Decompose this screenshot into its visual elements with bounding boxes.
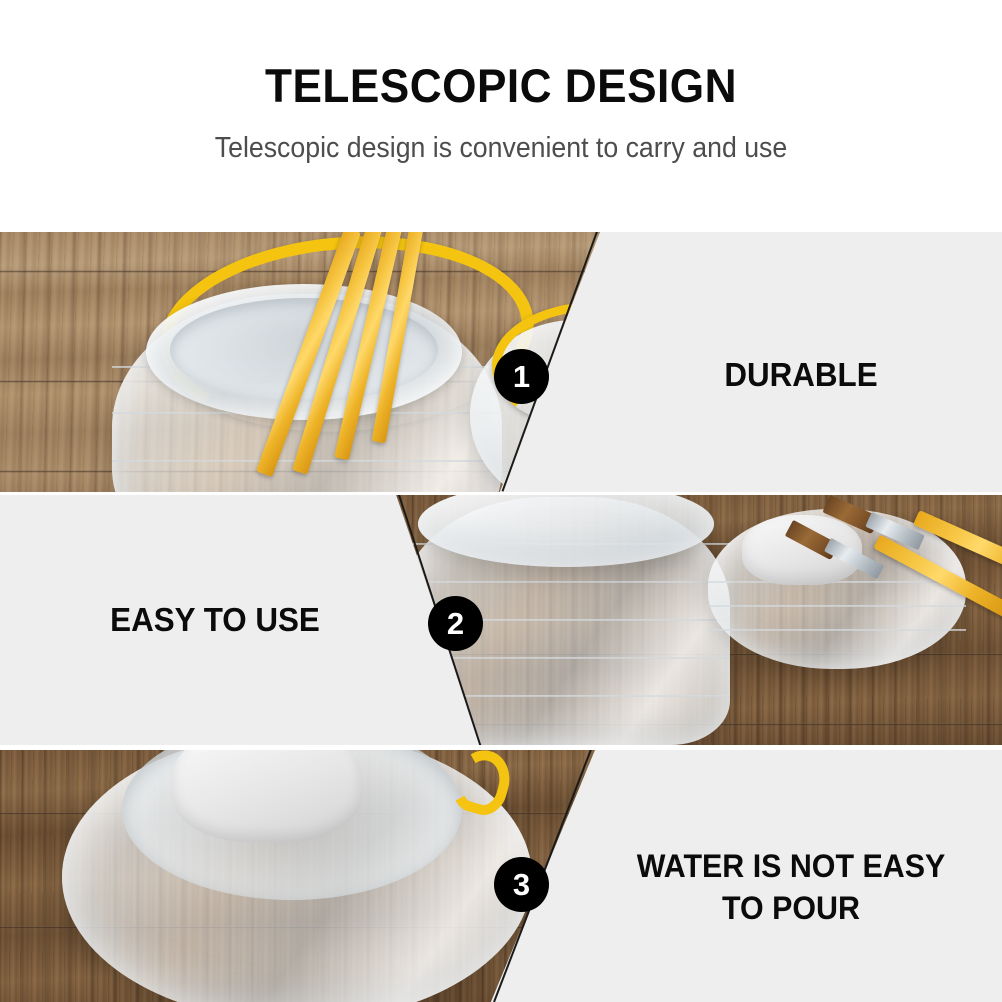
header: TELESCOPIC DESIGN Telescopic design is c…	[0, 0, 1002, 232]
feature-caption-2: EASY TO USE	[11, 601, 420, 639]
step-badge-3: 3	[494, 857, 549, 912]
page-subtitle: Telescopic design is convenient to carry…	[40, 128, 962, 168]
infographic-page: TELESCOPIC DESIGN Telescopic design is c…	[0, 0, 1002, 1002]
sponge	[172, 750, 362, 842]
page-title: TELESCOPIC DESIGN	[30, 58, 972, 114]
feature-caption-3: WATER IS NOT EASY TO POUR	[591, 845, 992, 929]
step-badge-1: 1	[494, 349, 549, 404]
feature-caption-3-line2: TO POUR	[591, 887, 992, 929]
step-badge-2: 2	[428, 596, 483, 651]
feature-caption-1: DURABLE	[610, 356, 992, 394]
feature-caption-3-line1: WATER IS NOT EASY	[591, 845, 992, 887]
